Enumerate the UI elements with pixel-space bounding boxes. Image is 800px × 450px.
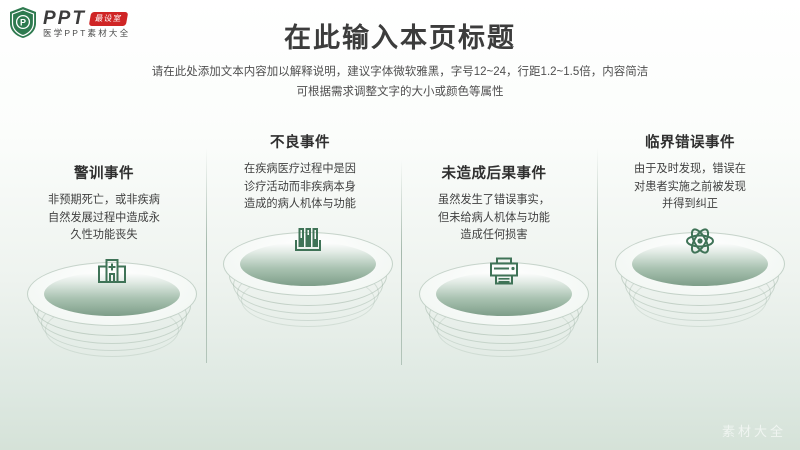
column-2: 不良事件 在疾病医疗过程中是因 诊疗活动而非疾病本身 造成的病人机体与功能 — [202, 131, 398, 214]
column-4-body: 由于及时发现，错误在 对患者实施之前被发现 并得到纠正 — [592, 161, 788, 214]
hospital-icon — [27, 254, 197, 288]
disc-stack-4 — [615, 232, 785, 352]
atom-icon — [615, 224, 785, 258]
page-title: 在此输入本页标题 — [0, 16, 800, 55]
column-1: 警训事件 非预期死亡，或非疾病 自然发展过程中造成永 久性功能丧失 — [6, 162, 202, 245]
column-1-body-line-1: 非预期死亡，或非疾病 — [6, 192, 202, 210]
column-4-body-line-3: 并得到纠正 — [592, 196, 788, 214]
column-4: 临界错误事件 由于及时发现，错误在 对患者实施之前被发现 并得到纠正 — [592, 131, 788, 214]
slide-root: P PPT 最设室 医学PPT素材大全 在此输入本页标题 请在此处添加文本内容加… — [0, 0, 800, 450]
page-subtitle: 请在此处添加文本内容加以解释说明，建议字体微软雅黑，字号12~24，行距1.2~… — [0, 63, 800, 103]
column-2-body-line-1: 在疾病医疗过程中是因 — [202, 161, 398, 179]
subtitle-line-1: 请在此处添加文本内容加以解释说明，建议字体微软雅黑，字号12~24，行距1.2~… — [0, 63, 800, 83]
column-4-heading: 临界错误事件 — [592, 131, 788, 152]
column-2-body-line-2: 诊疗活动而非疾病本身 — [202, 179, 398, 197]
column-3-body-line-3: 造成任何损害 — [396, 227, 592, 245]
printer-icon — [419, 254, 589, 288]
column-2-body: 在疾病医疗过程中是因 诊疗活动而非疾病本身 造成的病人机体与功能 — [202, 161, 398, 214]
column-3-body: 虽然发生了错误事实， 但未给病人机体与功能 造成任何损害 — [396, 192, 592, 245]
column-1-heading: 警训事件 — [6, 162, 202, 183]
subtitle-line-2: 可根据需求调整文字的大小或颜色等属性 — [0, 83, 800, 103]
column-2-heading: 不良事件 — [202, 131, 398, 152]
column-4-body-line-1: 由于及时发现，错误在 — [592, 161, 788, 179]
column-1-body-line-2: 自然发展过程中造成永 — [6, 210, 202, 228]
test-tubes-icon — [223, 224, 393, 258]
column-1-body-line-3: 久性功能丧失 — [6, 227, 202, 245]
column-3-body-line-2: 但未给病人机体与功能 — [396, 210, 592, 228]
column-3: 未造成后果事件 虽然发生了错误事实， 但未给病人机体与功能 造成任何损害 — [396, 162, 592, 245]
disc-stack-2 — [223, 232, 393, 352]
disc-stack-1 — [27, 262, 197, 382]
disc-stack-3 — [419, 262, 589, 382]
column-3-heading: 未造成后果事件 — [396, 162, 592, 183]
column-2-body-line-3: 造成的病人机体与功能 — [202, 196, 398, 214]
watermark: 素材大全 — [722, 421, 786, 440]
column-1-body: 非预期死亡，或非疾病 自然发展过程中造成永 久性功能丧失 — [6, 192, 202, 245]
column-4-body-line-2: 对患者实施之前被发现 — [592, 179, 788, 197]
column-3-body-line-1: 虽然发生了错误事实， — [396, 192, 592, 210]
